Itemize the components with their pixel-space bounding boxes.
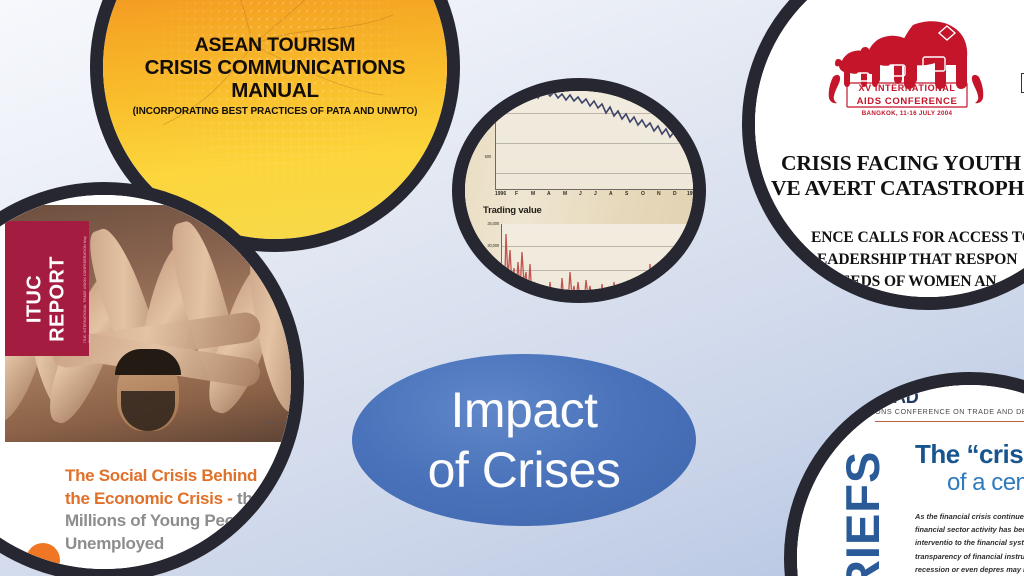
ituc-page: ITUC REPORT ITUC INTERNATIONAL TRADE UNI… bbox=[0, 195, 291, 569]
price-x-tick-j2: J bbox=[594, 191, 597, 197]
trading-value-label: Trading value bbox=[483, 205, 542, 216]
ituc-title-line4: Unemployed bbox=[65, 534, 164, 553]
asean-title-block: ASEAN TOURISM CRISIS COMMUNICATIONS MANU… bbox=[103, 35, 447, 117]
aids-headline-line2: VE AVERT CATASTROPH bbox=[755, 176, 1024, 201]
ituc-title-line3: Millions of Young People bbox=[65, 511, 258, 530]
unctad-page: AD ONS CONFERENCE ON TRADE AND DEVELOPME… bbox=[797, 385, 1024, 576]
ituc-report-band: ITUC REPORT ITUC INTERNATIONAL TRADE UNI… bbox=[5, 221, 89, 356]
price-x-tick-a2: A bbox=[609, 191, 613, 197]
image-ituc-report-cover[interactable]: ITUC REPORT ITUC INTERNATIONAL TRADE UNI… bbox=[0, 182, 304, 576]
price-y-tick-500: 500 bbox=[471, 154, 491, 159]
image-unctad-policy-brief[interactable]: AD ONS CONFERENCE ON TRADE AND DEVELOPME… bbox=[784, 372, 1024, 576]
price-x-tick-1996: 1996 bbox=[495, 191, 506, 197]
image-market-crash-chart[interactable]: 600 500 1996 F M A M J J A S O N D 1997 … bbox=[452, 78, 706, 303]
unctad-title-line1: The “crisis bbox=[915, 439, 1024, 470]
aids-subhead-line3: NEEDS OF WOMEN AN bbox=[755, 273, 1024, 291]
price-x-tick-s: S bbox=[625, 191, 628, 197]
photo-credit: ©Reuters / Eddie Keogh bbox=[263, 421, 291, 425]
volume-chart-panel bbox=[501, 224, 693, 290]
price-chart-panel bbox=[495, 91, 693, 190]
ituc-report-label: ITUC REPORT bbox=[24, 232, 70, 367]
ituc-title-line2a: the Economic Crisis - bbox=[65, 489, 233, 508]
volume-line-series bbox=[502, 224, 693, 290]
aids-logo-line3: BANGKOK, 11-16 JULY 2004 bbox=[817, 110, 997, 117]
asean-subtitle: (INCORPORATING BEST PRACTICES OF PATA AN… bbox=[103, 106, 447, 117]
aids-page: XV INTERNATIONAL AIDS CONFERENCE BANGKOK… bbox=[755, 0, 1024, 297]
price-x-tick-d: D bbox=[673, 191, 677, 197]
price-x-tick-f1: F bbox=[515, 191, 518, 197]
unctad-lead-paragraph: As the financial crisis continues its ev… bbox=[915, 510, 1024, 576]
impact-of-crises-callout[interactable]: Impact of Crises bbox=[352, 354, 696, 526]
market-chart-page: 600 500 1996 F M A M J J A S O N D 1997 … bbox=[465, 91, 693, 290]
callout-line2: of Crises bbox=[428, 440, 621, 500]
price-x-tick-1997: 1997 bbox=[687, 191, 693, 197]
asean-title-line2: CRISIS COMMUNICATIONS MANUAL bbox=[103, 57, 447, 103]
aids-subhead-line2: EADERSHIP THAT RESPON bbox=[755, 251, 1024, 269]
asean-title-line1: ASEAN TOURISM bbox=[103, 35, 447, 57]
volume-y-tick-20000: 20,000 bbox=[475, 243, 499, 248]
newspaper-page: 600 500 1996 F M A M J J A S O N D 1997 … bbox=[465, 91, 693, 290]
image-aids-conference-press-release[interactable]: XV INTERNATIONAL AIDS CONFERENCE BANGKOK… bbox=[742, 0, 1024, 310]
volume-y-tick-15000: 15,000 bbox=[475, 267, 499, 272]
ituc-cover-title: The Social Crisis Behind the Economic Cr… bbox=[65, 465, 291, 555]
unctad-logo: AD bbox=[893, 387, 918, 408]
aids-logo-line1: XV INTERNATIONAL bbox=[817, 83, 997, 93]
ituc-logo-circle-icon bbox=[26, 543, 60, 569]
ituc-title-line1: The Social Crisis Behind bbox=[65, 466, 257, 485]
callout-line1: Impact bbox=[450, 380, 597, 440]
price-line-series bbox=[496, 91, 693, 189]
price-x-tick-o: O bbox=[641, 191, 645, 197]
aids-headline-line1: CRISIS FACING YOUTH AN bbox=[755, 151, 1024, 176]
header-divider bbox=[875, 421, 1024, 422]
aids-subhead-line1: ENCE CALLS FOR ACCESS TO bbox=[755, 229, 1024, 247]
aids-logo-line2: AIDS CONFERENCE bbox=[817, 96, 997, 107]
slide-canvas: ASEAN TOURISM CRISIS COMMUNICATIONS MANU… bbox=[0, 0, 1024, 576]
volume-y-tick-25000: 25,000 bbox=[475, 221, 499, 226]
price-x-tick-n: N bbox=[657, 191, 661, 197]
price-x-tick-j1: J bbox=[579, 191, 582, 197]
ituc-band-small-print: ITUC INTERNATIONAL TRADE UNION CONFEDERA… bbox=[83, 235, 93, 343]
ituc-title-line2b: the bbox=[233, 489, 262, 508]
price-y-tick-600: 600 bbox=[471, 124, 491, 129]
unctad-org-line: ONS CONFERENCE ON TRADE AND DEVELOPMENT bbox=[875, 407, 1024, 416]
unctad-title-line2: of a century”.. bbox=[947, 469, 1024, 497]
briefs-label: BRIEFS bbox=[835, 451, 890, 576]
price-x-tick-a1: A bbox=[547, 191, 551, 197]
ituc-logo: ITUC CSI IGB bbox=[15, 543, 71, 569]
price-x-tick-m1: M bbox=[531, 191, 535, 197]
price-x-tick-m2: M bbox=[563, 191, 567, 197]
